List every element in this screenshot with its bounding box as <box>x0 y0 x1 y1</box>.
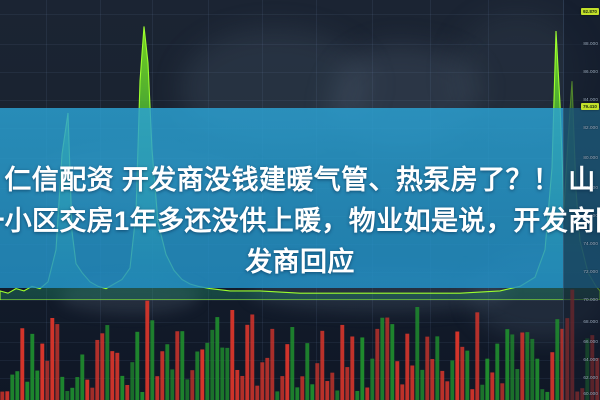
volume-bar <box>435 336 439 400</box>
volume-bar <box>315 363 319 400</box>
volume-bar <box>425 337 429 400</box>
volume-bar <box>535 359 539 400</box>
volume-bar <box>55 324 59 400</box>
volume-bar <box>510 334 514 400</box>
volume-bar <box>155 376 159 400</box>
volume-bar <box>250 314 254 400</box>
volume-bar <box>135 332 139 400</box>
volume-bar <box>375 329 379 400</box>
volume-bar <box>60 377 64 400</box>
volume-bar <box>275 391 279 400</box>
volume-bar <box>410 366 414 400</box>
volume-bar <box>515 369 519 400</box>
volume-bar <box>120 376 124 400</box>
volume-bar <box>160 351 164 400</box>
volume-bar <box>0 392 4 400</box>
volume-bar <box>25 382 29 400</box>
volume-bar <box>85 380 89 400</box>
volume-bar <box>440 371 444 400</box>
volume-bar <box>90 388 94 400</box>
volume-bar <box>465 351 469 400</box>
volume-bar <box>555 319 559 400</box>
volume-bar <box>105 325 109 400</box>
volume-bar <box>395 361 399 400</box>
volume-bar <box>260 362 264 400</box>
volume-bar <box>130 362 134 400</box>
volume-bar-series <box>0 282 600 400</box>
volume-bar <box>505 329 509 400</box>
volume-bar <box>450 360 454 400</box>
volume-bar <box>365 388 369 400</box>
volume-bar <box>205 343 209 400</box>
volume-bar <box>550 352 554 400</box>
headline-overlay: 仁信配资 开发商没钱建暖气管、热泵房了？！ 山 一小区交房1年多还没供上暖，物业… <box>0 160 600 283</box>
volume-bar <box>50 318 54 400</box>
volume-bar <box>45 361 49 400</box>
volume-bar <box>485 359 489 400</box>
volume-bar <box>95 340 99 400</box>
volume-bar <box>170 369 174 400</box>
volume-bar <box>240 376 244 400</box>
price-axis-tick: 64.000 <box>583 357 598 362</box>
volume-bar <box>100 333 104 400</box>
volume-bar <box>190 370 194 400</box>
volume-bar <box>490 372 494 400</box>
price-axis-tick: 70.000 <box>583 297 598 302</box>
volume-bar <box>30 334 34 400</box>
volume-bar <box>145 301 149 400</box>
volume-bar <box>380 318 384 400</box>
volume-bar <box>385 318 389 400</box>
price-axis-tick: 84.000 <box>583 97 598 102</box>
volume-bar <box>455 332 459 400</box>
volume-bar <box>115 353 119 400</box>
volume-bar <box>65 391 69 400</box>
volume-bar <box>300 376 304 400</box>
volume-bar <box>530 339 534 400</box>
volume-bar <box>540 389 544 400</box>
volume-bar <box>215 317 219 400</box>
volume-bar <box>80 354 84 400</box>
volume-bar <box>70 388 74 400</box>
volume-bar <box>405 334 409 400</box>
headline-line-3: 发商回应 <box>0 242 600 283</box>
volume-bar <box>265 358 269 400</box>
chart-screenshot: 90.00088.00086.00084.00082.00080.00078.0… <box>0 0 600 400</box>
volume-bar <box>525 332 529 400</box>
volume-bar <box>175 331 179 400</box>
volume-bar <box>290 327 294 400</box>
volume-bar <box>350 336 354 400</box>
volume-bar <box>325 381 329 400</box>
volume-bar <box>415 307 419 400</box>
headline-line-2: 一小区交房1年多还没供上暖，物业如是说，开发商回 <box>0 201 600 242</box>
volume-bar <box>320 331 324 400</box>
volume-bar <box>500 383 504 400</box>
volume-bar <box>220 348 224 400</box>
volume-bar <box>245 325 249 400</box>
volume-bar <box>185 379 189 400</box>
volume-bar <box>150 320 154 400</box>
volume-bar <box>75 377 79 400</box>
volume-bar <box>270 329 274 400</box>
volume-bar <box>15 371 19 400</box>
volume-bar <box>335 391 339 400</box>
volume-bar <box>420 370 424 400</box>
volume-bar <box>200 349 204 400</box>
volume-bar <box>125 385 129 400</box>
current-price-tag[interactable]: 79.410 <box>581 103 599 110</box>
volume-bar <box>255 386 259 400</box>
volume-bar <box>480 385 484 400</box>
volume-bar <box>285 344 289 400</box>
volume-bar <box>345 367 349 400</box>
volume-bar <box>235 370 239 400</box>
volume-bar <box>400 384 404 400</box>
volume-bar <box>360 337 364 400</box>
volume-bar <box>470 389 474 400</box>
volume-bar <box>140 392 144 400</box>
volume-bar <box>445 381 449 400</box>
volume-bar <box>210 330 214 400</box>
price-axis-tick: 66.000 <box>583 339 598 344</box>
price-axis-tick: 82.000 <box>583 125 598 130</box>
volume-bar <box>40 344 44 400</box>
volume-bar <box>520 333 524 400</box>
volume-bar <box>460 347 464 400</box>
volume-bar <box>110 351 114 400</box>
volume-bar <box>330 373 334 400</box>
volume-bar <box>545 392 549 400</box>
volume-bar <box>180 331 184 400</box>
volume-bar <box>305 343 309 400</box>
volume-bar <box>230 310 234 400</box>
volume-bar <box>165 344 169 400</box>
current-price-tag[interactable]: 92.870 <box>581 8 599 15</box>
volume-bar <box>475 312 479 400</box>
headline-line-1: 仁信配资 开发商没钱建暖气管、热泵房了？！ 山 <box>0 160 600 201</box>
volume-bar <box>370 359 374 400</box>
volume-bar <box>430 359 434 400</box>
volume-bar <box>495 344 499 400</box>
volume-bar <box>35 371 39 400</box>
volume-bar <box>355 391 359 400</box>
price-axis-tick: 88.000 <box>583 41 598 46</box>
price-axis-tick: 86.000 <box>583 69 598 74</box>
volume-bar <box>310 384 314 400</box>
price-axis-tick: 68.000 <box>583 319 598 324</box>
volume-bar <box>195 352 199 400</box>
volume-bar <box>10 375 14 400</box>
volume-bar <box>295 387 299 400</box>
volume-bar <box>5 391 9 400</box>
volume-bar <box>20 328 24 400</box>
volume-bar <box>225 348 229 400</box>
price-axis-tick: 62.000 <box>583 375 598 380</box>
volume-bar <box>280 376 284 400</box>
price-axis-tick: 60.000 <box>583 391 598 396</box>
volume-bar <box>390 324 394 400</box>
volume-bar <box>340 325 344 400</box>
